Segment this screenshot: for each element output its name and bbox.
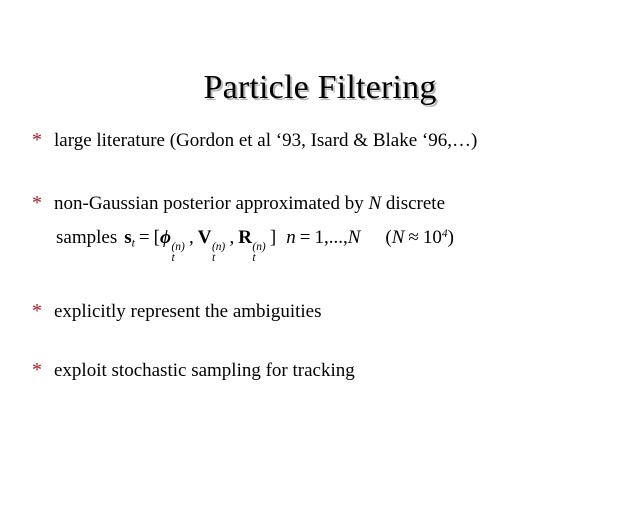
bullet-marker-icon: * — [32, 191, 42, 216]
list-item-label: non-Gaussian posterior approximated by N… — [54, 191, 640, 216]
note-close-paren: ) — [448, 227, 454, 248]
symbol-N: N — [368, 193, 381, 214]
bullet-marker-icon: * — [32, 299, 42, 324]
list-item-non-gaussian: * non-Gaussian posterior approximated by… — [30, 191, 640, 257]
note-symbol-N: N — [392, 227, 405, 248]
bullet-list: * large literature (Gordon et al ‘93, Is… — [30, 128, 640, 383]
list-item-stochastic: * exploit stochastic sampling for tracki… — [30, 358, 640, 383]
index-max: N — [348, 227, 361, 248]
page-title: Particle Filtering — [0, 68, 640, 108]
separator-1: , — [189, 227, 194, 248]
list-item-label: large literature (Gordon et al ‘93, Isar… — [54, 130, 477, 151]
component-r: R — [238, 227, 252, 248]
close-bracket: ] — [270, 227, 276, 248]
phi-superscript: (n) — [171, 234, 184, 260]
list-item-label: exploit stochastic sampling for tracking — [54, 360, 355, 381]
state-subscript: t — [132, 237, 135, 250]
list-item-ambiguities: * explicitly represent the ambiguities — [30, 299, 640, 324]
list-item-label: explicitly represent the ambiguities — [54, 301, 322, 322]
note-base: 10 — [423, 227, 442, 248]
equation-label: samples — [56, 227, 117, 248]
component-v: V — [198, 227, 212, 248]
list-item-literature: * large literature (Gordon et al ‘93, Is… — [30, 128, 640, 153]
separator-2: , — [229, 227, 234, 248]
slide: Particle Filtering * large literature (G… — [0, 0, 640, 512]
text-before-n: non-Gaussian posterior approximated by — [54, 193, 368, 214]
index-equals: = — [300, 227, 311, 248]
equation-line: samplesst=[ϕt(n),Vt(n),Rt(n)]n=1,...,N(N… — [54, 221, 640, 257]
component-phi: ϕ — [160, 227, 171, 248]
index-symbol: n — [286, 227, 296, 248]
v-superscript: (n) — [212, 234, 225, 260]
r-superscript: (n) — [252, 234, 265, 260]
bullet-marker-icon: * — [32, 358, 42, 383]
equals-sign: = — [139, 227, 150, 248]
approx-sign: ≈ — [408, 227, 418, 248]
index-range: 1,..., — [314, 227, 347, 248]
text-after-n: discrete — [381, 193, 445, 214]
bullet-marker-icon: * — [32, 128, 42, 153]
state-symbol: s — [124, 227, 131, 248]
